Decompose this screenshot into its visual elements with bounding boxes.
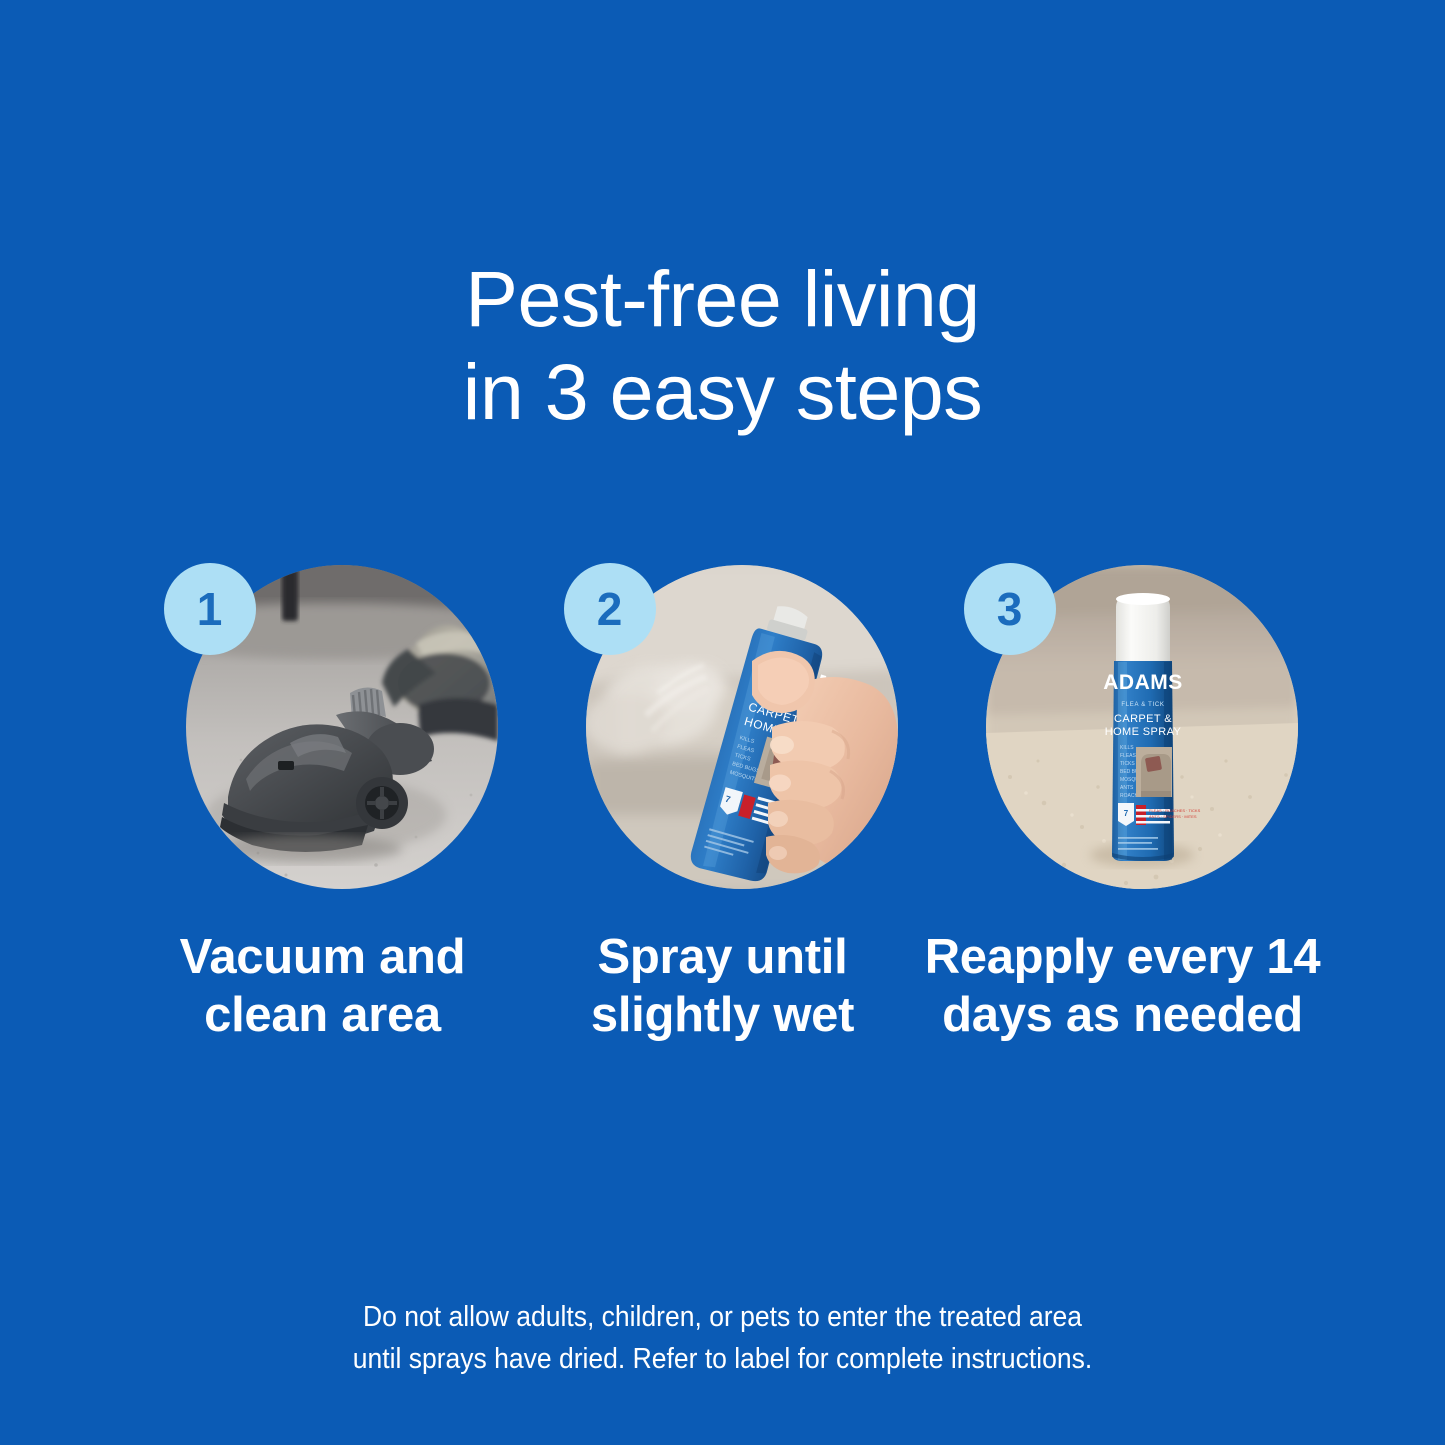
step-3: ADAMS FLEA & TICK CARPET & HOME SPRAY KI… [923, 560, 1323, 1044]
step-3-caption-line-2: days as needed [913, 986, 1333, 1044]
svg-text:ADAMS: ADAMS [1103, 671, 1183, 694]
svg-text:ANTS · SPIDERS · MITES: ANTS · SPIDERS · MITES [1149, 814, 1197, 819]
step-3-caption: Reapply every 14 days as needed [913, 928, 1333, 1044]
step-3-number-badge: 3 [964, 563, 1056, 655]
step-1-caption-line-1: Vacuum and [113, 928, 533, 986]
infographic-page: Pest-free living in 3 easy steps [0, 0, 1445, 1445]
svg-text:FLEA & TICK: FLEA & TICK [1121, 702, 1164, 708]
disclaimer-line-2: until sprays have dried. Refer to label … [51, 1338, 1395, 1380]
step-2: ADAMS FLEA & TICK CARPET & HOME SPRAY KI… [523, 560, 923, 1044]
step-1: 1 Vacuum and clean area [123, 560, 523, 1044]
step-1-caption-line-2: clean area [113, 986, 533, 1044]
step-2-number-badge: 2 [564, 563, 656, 655]
step-1-number: 1 [197, 582, 223, 636]
svg-text:HOME SPRAY: HOME SPRAY [1104, 726, 1181, 738]
step-2-number: 2 [597, 582, 623, 636]
title-line-2: in 3 easy steps [0, 345, 1445, 438]
svg-text:KILLS: KILLS [1120, 745, 1134, 751]
disclaimer-text: Do not allow adults, children, or pets t… [51, 1296, 1395, 1380]
step-2-caption: Spray until slightly wet [513, 928, 933, 1044]
title-line-1: Pest-free living [0, 252, 1445, 345]
disclaimer-line-1: Do not allow adults, children, or pets t… [51, 1296, 1395, 1338]
step-3-number: 3 [997, 582, 1023, 636]
svg-text:ANTS: ANTS [1120, 785, 1134, 791]
svg-text:CARPET &: CARPET & [1113, 713, 1171, 725]
page-title: Pest-free living in 3 easy steps [0, 252, 1445, 438]
svg-text:FLEAS · ROACHES · TICKS: FLEAS · ROACHES · TICKS [1149, 808, 1201, 813]
step-2-caption-line-2: slightly wet [513, 986, 933, 1044]
step-1-number-badge: 1 [164, 563, 256, 655]
step-3-caption-line-1: Reapply every 14 [913, 928, 1333, 986]
svg-text:TICKS: TICKS [1120, 761, 1135, 767]
steps-row: 1 Vacuum and clean area [0, 560, 1445, 1044]
svg-text:7: 7 [1123, 809, 1128, 818]
step-3-media: ADAMS FLEA & TICK CARPET & HOME SPRAY KI… [964, 560, 1282, 890]
svg-text:FLEAS: FLEAS [1120, 753, 1137, 759]
step-1-caption: Vacuum and clean area [113, 928, 533, 1044]
step-2-media: ADAMS FLEA & TICK CARPET & HOME SPRAY KI… [564, 560, 882, 890]
step-2-caption-line-1: Spray until [513, 928, 933, 986]
step-1-media: 1 [164, 560, 482, 890]
